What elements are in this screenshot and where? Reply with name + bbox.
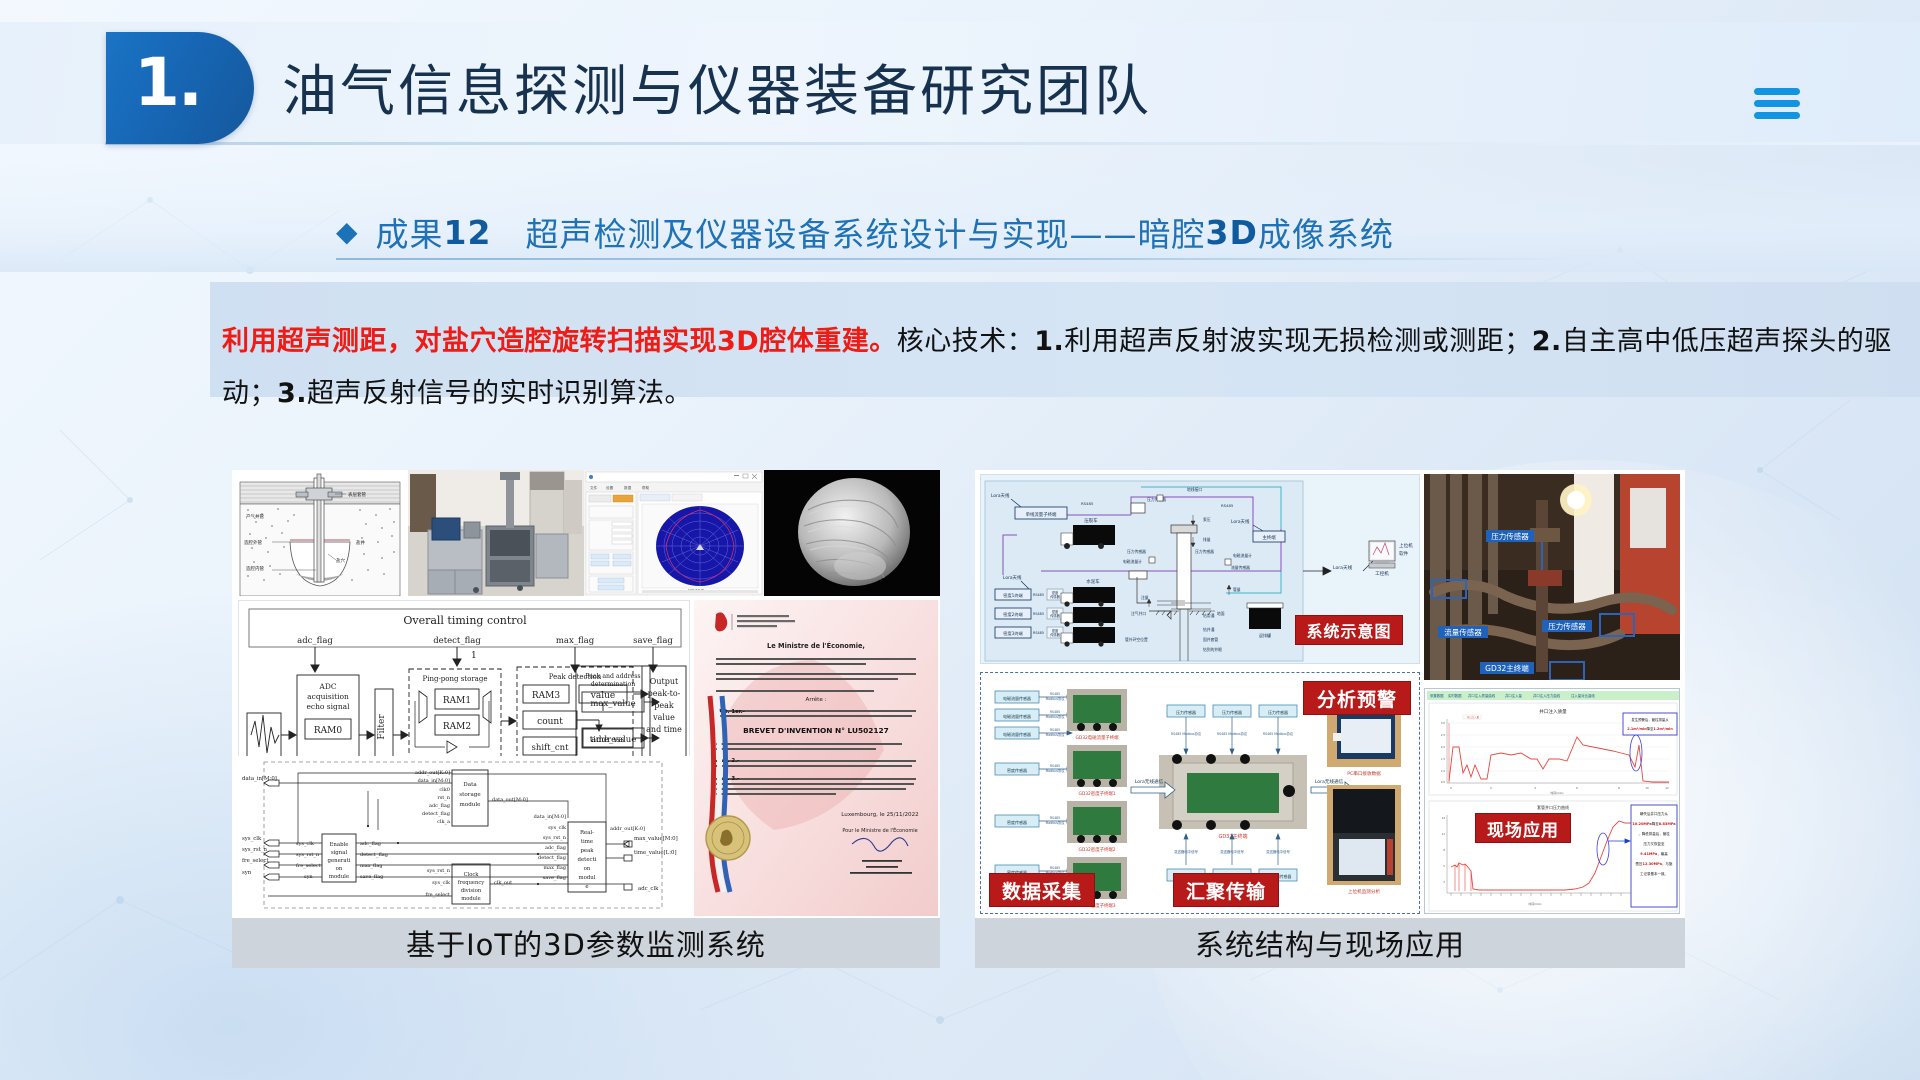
svg-text:time_value[L:0]: time_value[L:0]: [634, 850, 677, 856]
menu-bar-1: [1754, 88, 1800, 95]
svg-text:GD32主终端: GD32主终端: [1485, 663, 1529, 673]
svg-text:电磁流量计: 电磁流量计: [1123, 559, 1142, 564]
svg-text:data_out[M:0]: data_out[M:0]: [492, 797, 528, 803]
system-schematic-badge-text: 系统示意图: [1306, 618, 1391, 642]
svg-text:3.0: 3.0: [1441, 721, 1445, 725]
svg-text:sys_rst_n: sys_rst_n: [543, 835, 567, 841]
svg-text:data_in[M:0]: data_in[M:0]: [242, 776, 277, 782]
header-underline: [105, 142, 1920, 145]
scanning-software-ui: 文件设置数据帮助: [584, 470, 764, 596]
svg-text:压力传感器: 压力传感器: [1127, 549, 1146, 554]
svg-text:密度3终端: 密度3终端: [1003, 630, 1022, 637]
svg-text:时间(min): 时间(min): [1528, 902, 1541, 906]
well-schematic-figure: 表层套管 产气井管 造腔外管 盐井 造腔内管 盐穴: [232, 470, 408, 596]
right-caption-text: 系统结构与现场应用: [1195, 922, 1465, 964]
svg-text:2.1m³/min降至1.2m³/min: 2.1m³/min降至1.2m³/min: [1627, 726, 1673, 731]
svg-text:压力传感器: 压力传感器: [1548, 621, 1586, 631]
field-site-photo: 压力传感器 流量传感器 压力传感器 GD32主终端: [1424, 474, 1680, 680]
svg-text:detect_flag: detect_flag: [360, 852, 389, 858]
svg-text:on: on: [584, 866, 591, 872]
svg-text:压裂车: 压裂车: [1084, 517, 1098, 524]
svg-text:帮助: 帮助: [642, 485, 650, 490]
svg-text:钻井通: 钻井通: [1203, 627, 1215, 632]
subtitle-rule: [336, 258, 1576, 260]
svg-text:密度传感器: 密度传感器: [1007, 819, 1027, 825]
svg-text:采集数据: 采集数据: [1430, 693, 1444, 698]
svg-text:注量: 注量: [1141, 595, 1149, 600]
svg-text:Lora无线通信: Lora无线通信: [1135, 778, 1164, 785]
svg-text:Lora无线通信: Lora无线通信: [1315, 778, 1344, 785]
svg-text:RS485: RS485: [1033, 631, 1044, 635]
hamburger-menu-icon[interactable]: [1754, 88, 1800, 122]
cavity-3d-render: [764, 470, 940, 596]
svg-text:压力传感器: 压力传感器: [1268, 709, 1288, 715]
svg-text:Arrête :: Arrête :: [806, 696, 827, 703]
badge-aggregation-text: 汇聚传输: [1186, 877, 1266, 904]
svg-text:压力传感器: 压力传感器: [1147, 497, 1166, 502]
body-lead: 核心技术：: [897, 326, 1035, 357]
svg-text:generati: generati: [328, 858, 351, 864]
svg-text:实时数据: 实时数据: [1448, 693, 1462, 698]
svg-text:module: module: [461, 896, 480, 902]
svg-text:max_flag: max_flag: [543, 865, 566, 871]
svg-text:modul: modul: [578, 875, 595, 881]
svg-text:电磁流量计: 电磁流量计: [1233, 553, 1252, 558]
svg-text:密度1终端: 密度1终端: [1003, 592, 1022, 599]
svg-text:BREVET D'INVENTION N° LU502127: BREVET D'INVENTION N° LU502127: [743, 726, 889, 735]
svg-text:save_flag: save_flag: [543, 875, 567, 881]
svg-text:max_value[M:0]: max_value[M:0]: [634, 836, 678, 842]
svg-text:瞬失后井口压力从: 瞬失后井口压力从: [1640, 811, 1668, 816]
right-figure-caption: 系统结构与现场应用: [975, 918, 1685, 968]
svg-text:管量: 管量: [1233, 587, 1241, 592]
svg-text:detecti: detecti: [578, 857, 597, 863]
svg-text:signal: signal: [331, 850, 348, 856]
body-item3-num: 3.: [277, 378, 307, 409]
svg-text:adc_flag: adc_flag: [545, 845, 567, 851]
svg-text:地面: 地面: [1217, 611, 1225, 616]
svg-text:2.5: 2.5: [1441, 733, 1445, 737]
iot-architecture-diagram: 电磁流量传感器电磁流量传感器电磁流量传感器 密度传感器密度传感器密度传感器 RS…: [980, 672, 1420, 914]
system-schematic-figure: 单线流量子终端 Lora天线 Lora天线 密度1终端 密度2终端 密度3终端 …: [980, 474, 1420, 664]
svg-text:module: module: [329, 874, 349, 880]
svg-text:GD32密度子终端2: GD32密度子终端2: [1078, 846, 1115, 853]
patent-certificate: Le Ministre de l'Économie, Arrête : Art.…: [694, 600, 938, 916]
svg-text:peak: peak: [580, 848, 594, 854]
svg-text:上位机: 上位机: [1399, 542, 1413, 549]
svg-text:盐井: 盐井: [356, 539, 365, 546]
svg-text:storage: storage: [459, 792, 481, 798]
system-schematic-badge: 系统示意图: [1295, 615, 1403, 645]
svg-text:max_flag: max_flag: [360, 863, 383, 869]
svg-text:fre_select: fre_select: [242, 858, 269, 864]
subtitle-label-number: 12: [444, 213, 492, 252]
svg-text:RS485: RS485: [1050, 866, 1060, 870]
svg-text:rst_n: rst_n: [437, 795, 450, 801]
svg-text:数据: 数据: [624, 485, 632, 490]
svg-text:主终端: 主终端: [1262, 534, 1276, 541]
svg-text:套管井口压力曲线: 套管井口压力曲线: [1537, 804, 1569, 810]
svg-text:RS485: RS485: [1221, 503, 1234, 508]
svg-text:Luxembourg, le 25/11/2022: Luxembourg, le 25/11/2022: [841, 812, 918, 818]
svg-text:排量: 排量: [1203, 537, 1211, 542]
svg-text:RS485 Modbus协议: RS485 Modbus协议: [1263, 731, 1294, 736]
subtitle-text-number: 3D: [1205, 213, 1257, 252]
svg-text:frequency: frequency: [458, 880, 484, 886]
svg-text:adc_clk: adc_clk: [638, 886, 659, 892]
svg-text:地线接口: 地线接口: [1187, 487, 1202, 492]
svg-text:发生预警后，管柱排量从: 发生预警后，管柱排量从: [1631, 717, 1669, 722]
badge-data-acquisition: 数据采集: [989, 873, 1095, 907]
svg-text:软件: 软件: [1399, 550, 1409, 557]
svg-text:注气井口: 注气井口: [1131, 611, 1146, 616]
badge-aggregation-transmission: 汇聚传输: [1173, 873, 1279, 907]
svg-text:10: 10: [1645, 786, 1649, 790]
svg-text:1.0: 1.0: [1441, 769, 1445, 773]
svg-text:0.5: 0.5: [1441, 780, 1445, 784]
svg-text:RS485: RS485: [1050, 816, 1060, 820]
svg-text:clk_out: clk_out: [494, 880, 512, 886]
svg-text:GD32电磁流量子终端: GD32电磁流量子终端: [1075, 734, 1119, 741]
svg-text:division: division: [461, 888, 482, 894]
badge-analysis-text: 分析预警: [1317, 685, 1397, 712]
diamond-bullet-icon: ◆: [336, 218, 358, 246]
svg-text:RS485: RS485: [1050, 764, 1060, 768]
svg-text:2.0: 2.0: [1441, 745, 1445, 749]
body-highlight: 利用超声测距，对盐穴造腔旋转扫描实现3D腔体重建。: [222, 326, 897, 357]
badge-analysis-warning: 分析预警: [1303, 681, 1411, 715]
svg-text:fre_select: fre_select: [296, 863, 321, 869]
svg-text:传感器: 传感器: [1050, 632, 1060, 637]
svg-text:憋压12.30MPa，与施: 憋压12.30MPa，与施: [1636, 861, 1673, 866]
svg-text:压力传感器: 压力传感器: [1195, 549, 1214, 554]
svg-text:Lora天线: Lora天线: [991, 492, 1010, 499]
svg-text:detect_flag: detect_flag: [422, 811, 451, 817]
svg-text:井口注入质量: 井口注入质量: [1539, 708, 1567, 715]
svg-text:9.41MPa，最高: 9.41MPa，最高: [1640, 851, 1668, 856]
svg-text:表层套管: 表层套管: [348, 491, 366, 498]
svg-text:压力传感器: 压力传感器: [1222, 709, 1242, 715]
page-title: 油气信息探测与仪器装备研究团队: [282, 46, 1152, 126]
svg-text:，降低排量后，管柱: ，降低排量后，管柱: [1638, 831, 1670, 836]
svg-text:设置: 设置: [606, 485, 614, 490]
menu-bar-2: [1754, 100, 1800, 107]
svg-text:产气井管: 产气井管: [246, 513, 264, 520]
svg-text:module: module: [460, 802, 482, 808]
body-item1: 利用超声反射波实现无损检测或测距；: [1064, 326, 1532, 357]
svg-text:sys_rst_n: sys_rst_n: [427, 868, 451, 874]
svg-text:data_in[M:0]: data_in[M:0]: [534, 814, 566, 820]
svg-text:造腔内管: 造腔内管: [246, 565, 264, 572]
svg-text:时间(min): 时间(min): [1550, 791, 1563, 795]
badge-field-application-text: 现场应用: [1487, 816, 1559, 841]
svg-text:管外环空位置: 管外环空位置: [1125, 637, 1148, 642]
svg-text:压力又恢复至: 压力又恢复至: [1644, 841, 1665, 846]
svg-text:电磁流量传感器: 电磁流量传感器: [1003, 695, 1031, 701]
svg-text:流量传感器: 流量传感器: [1231, 565, 1250, 570]
svg-text:井口注入量: 井口注入量: [1505, 693, 1523, 698]
svg-text:Data: Data: [463, 782, 477, 788]
svg-text:adc_flag: adc_flag: [360, 841, 382, 847]
svg-text:1.5: 1.5: [1441, 757, 1445, 761]
svg-text:固井套管: 固井套管: [1203, 637, 1218, 642]
svg-text:sys_clk: sys_clk: [242, 836, 262, 842]
svg-text:clk0: clk0: [439, 787, 450, 793]
svg-text:RS485: RS485: [1033, 612, 1044, 616]
rtl-signal-diagram: data_in[M:0] sys_clk sys_rst_n fre_selec…: [238, 756, 690, 916]
svg-text:11: 11: [1442, 832, 1446, 836]
svg-text:RS485: RS485: [1033, 593, 1044, 597]
svg-text:Enable: Enable: [330, 842, 349, 848]
svg-text:电磁流量传感器: 电磁流量传感器: [1003, 713, 1031, 719]
body-item1-num: 1.: [1034, 326, 1064, 357]
body-paragraph: 利用超声测距，对盐穴造腔旋转扫描实现3D腔体重建。核心技术：1.利用超声反射波实…: [222, 316, 1920, 420]
svg-text:密度2终端: 密度2终端: [1003, 611, 1022, 618]
svg-text:sys_rst_n: sys_rst_n: [242, 847, 267, 853]
svg-text:sys_clk: sys_clk: [548, 825, 567, 831]
svg-text:detect_flag: detect_flag: [538, 855, 567, 861]
svg-text:传感器: 传感器: [1050, 594, 1060, 599]
svg-text:RS485 Modbus协议: RS485 Modbus协议: [1171, 731, 1202, 736]
svg-text:clk_a: clk_a: [437, 819, 450, 825]
svg-text:Pour le Ministre de l'Économie: Pour le Ministre de l'Économie: [842, 826, 917, 834]
badge-field-application: 现场应用: [1475, 813, 1571, 843]
svg-text:RS485: RS485: [1081, 501, 1094, 506]
field-application-charts: 采集数据实时数据井口注入质量曲线 井口注入量井口注入压力曲线注入量对比曲线 井口…: [1424, 688, 1680, 914]
svg-text:密度传感器: 密度传感器: [1007, 767, 1027, 773]
svg-text:adc_flag: adc_flag: [429, 803, 451, 809]
svg-text:Lora天线: Lora天线: [1333, 564, 1353, 571]
svg-text:单线流量子终端: 单线流量子终端: [1026, 511, 1057, 518]
section-number-badge: 1.: [106, 32, 254, 144]
subtitle-row: ◆ 成果 12 超声检测及仪器设备系统设计与实现——暗腔 3D 成像系统: [336, 208, 1394, 256]
left-image-strip: 表层套管 产气井管 造腔外管 盐井 造腔内管 盐穴: [232, 470, 940, 596]
svg-text:sys_clk: sys_clk: [432, 880, 451, 886]
svg-text:Lora天线: Lora天线: [1231, 518, 1250, 525]
svg-text:Le Ministre de l'Économie,: Le Ministre de l'Économie,: [767, 641, 865, 650]
svg-text:工记录基本一致。: 工记录基本一致。: [1640, 871, 1668, 876]
svg-text:井口注入量: 井口注入量: [1467, 715, 1480, 719]
svg-text:井口注入压力曲线: 井口注入压力曲线: [1533, 693, 1561, 698]
svg-text:RS485 Modbus协议: RS485 Modbus协议: [1217, 731, 1248, 736]
left-caption-text: 基于IoT的3D参数监测系统: [406, 922, 766, 964]
svg-text:钻到的井眼: 钻到的井眼: [1203, 647, 1222, 652]
subtitle-text-part2: 成像系统: [1258, 208, 1394, 256]
svg-text:返排罐: 返排罐: [1259, 632, 1271, 638]
svg-text:注入量对比曲线: 注入量对比曲线: [1571, 693, 1595, 698]
svg-text:Lora天线: Lora天线: [1003, 574, 1022, 581]
svg-text:传感器: 传感器: [1050, 613, 1060, 618]
svg-text:RS485: RS485: [1050, 710, 1060, 714]
left-figure-caption: 基于IoT的3D参数监测系统: [232, 918, 940, 968]
svg-text:电磁流量传感器: 电磁流量传感器: [1003, 731, 1031, 737]
svg-text:工控机: 工控机: [1375, 570, 1389, 577]
svg-text:压力传感器: 压力传感器: [1491, 531, 1529, 541]
svg-text:14: 14: [1442, 816, 1446, 820]
svg-text:time: time: [581, 839, 593, 845]
subtitle-text-part1: 超声检测及仪器设备系统设计与实现——暗腔: [525, 208, 1205, 256]
subtitle-label: 成果: [376, 208, 444, 256]
lab-equipment-photo: [408, 470, 584, 596]
svg-text:盐穴: 盐穴: [336, 557, 345, 564]
svg-text:上位机监测分析: 上位机监测分析: [1348, 888, 1381, 895]
svg-text:sys_rst_n: sys_rst_n: [296, 852, 320, 858]
svg-text:addr_out[K:0]: addr_out[K:0]: [610, 826, 645, 832]
svg-text:流量传感器: 流量传感器: [1444, 627, 1482, 637]
svg-text:泵压: 泵压: [1203, 517, 1211, 522]
body-item3: 超声反射信号的实时识别算法。: [307, 378, 692, 409]
svg-text:RS485: RS485: [1050, 692, 1060, 696]
svg-text:GD32密度子终端1: GD32密度子终端1: [1078, 790, 1115, 797]
svg-text:Real-: Real-: [580, 830, 594, 836]
svg-text:on: on: [336, 866, 343, 872]
svg-text:RS485: RS485: [1050, 728, 1060, 732]
svg-text:文件: 文件: [590, 485, 598, 490]
body-item2-num: 2.: [1532, 326, 1562, 357]
svg-text:PC串口接收数据: PC串口接收数据: [1347, 770, 1381, 777]
svg-text:12: 12: [1665, 786, 1669, 790]
menu-bar-3: [1754, 112, 1800, 119]
badge-data-acquisition-text: 数据采集: [1002, 877, 1082, 904]
section-number-text: 1.: [134, 50, 201, 116]
svg-text:压力传感器: 压力传感器: [1176, 709, 1196, 715]
svg-text:10.20MPa降至8.83MPa: 10.20MPa降至8.83MPa: [1632, 821, 1676, 826]
svg-text:水泥车: 水泥车: [1086, 578, 1100, 585]
svg-text:e: e: [585, 884, 588, 890]
svg-text:造腔外管: 造腔外管: [244, 539, 262, 546]
svg-text:fre_select: fre_select: [425, 892, 450, 898]
svg-text:sys_clk: sys_clk: [296, 841, 315, 847]
svg-text:syn: syn: [242, 870, 252, 876]
svg-text:井口注入质量曲线: 井口注入质量曲线: [1468, 693, 1496, 698]
